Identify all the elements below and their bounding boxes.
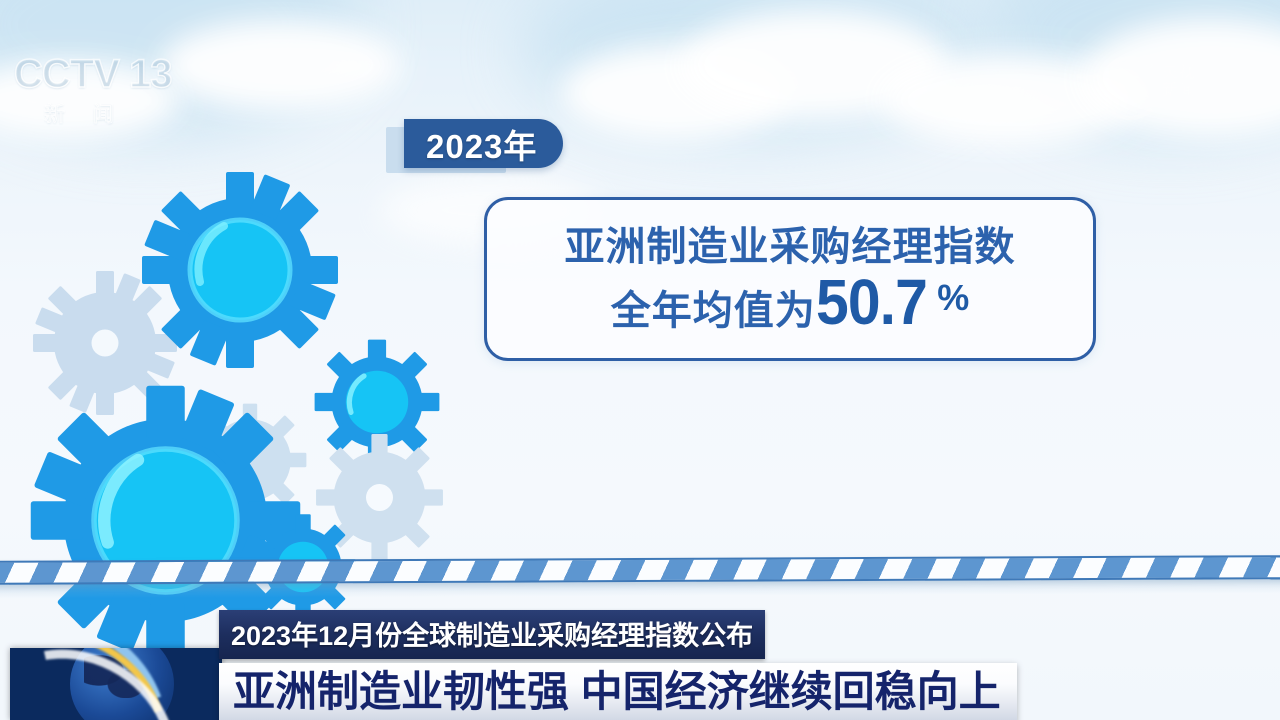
lower-third-headline: 亚洲制造业韧性强 中国经济继续回稳向上: [233, 668, 1001, 715]
cctv13-channel-logo: CCTV 13 新 闻: [14, 52, 184, 128]
year-tag-label: 2023年: [426, 120, 537, 168]
stat-callout-box: 亚洲制造业采购经理指数 全年均值为 50.7 %: [484, 197, 1096, 361]
lower-third-kicker: 2023年12月份全球制造业采购经理指数公布: [231, 621, 753, 651]
channel-logo-main: CCTV 13: [14, 52, 184, 96]
year-tag: 2023年: [404, 119, 563, 168]
lower-third-kicker-bar: 2023年12月份全球制造业采购经理指数公布: [219, 610, 765, 659]
stat-value: 50.7: [816, 274, 927, 330]
lower-third: 2023年12月份全球制造业采购经理指数公布 亚洲制造业韧性强 中国经济继续回稳…: [219, 610, 1280, 720]
channel-watermark: TV 央视新闻: [1050, 52, 1250, 114]
stat-title: 亚洲制造业采购经理指数: [565, 222, 1016, 272]
broadcast-screen: CCTV 13 新 闻 TV 央视新闻: [0, 0, 1280, 720]
lower-third-headline-bar: 亚洲制造业韧性强 中国经济继续回稳向上: [219, 663, 1017, 720]
stat-unit: %: [937, 277, 969, 319]
stat-lead-label: 全年均值为: [611, 278, 816, 336]
gear-decoration-blue-upper: [140, 170, 340, 370]
watermark-cn-label: 央视新闻: [1162, 64, 1196, 100]
cloud-shape: [160, 20, 400, 110]
news-thumbnail: [10, 648, 222, 720]
channel-logo-sub: 新 闻: [44, 98, 184, 128]
stat-value-row: 全年均值为 50.7 %: [611, 274, 970, 336]
watermark-label: TV: [1076, 68, 1115, 107]
